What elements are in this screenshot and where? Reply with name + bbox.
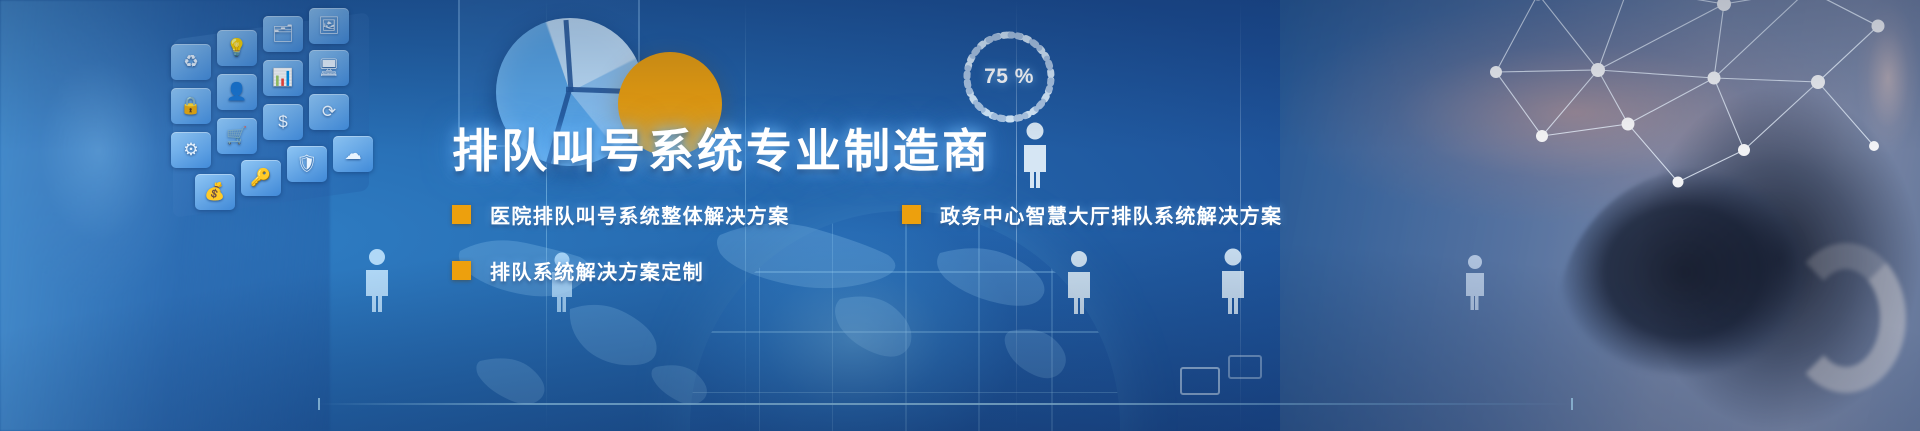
page-title: 排队叫号系统专业制造商 [452,128,1632,174]
list-item[interactable]: 医院排队叫号系统整体解决方案 [452,200,790,229]
orange-square-bullet-icon [452,205,471,224]
orange-square-bullet-icon [452,261,471,280]
list-item[interactable]: 政务中心智慧大厅排队系统解决方案 [902,200,1282,229]
feature-list: 医院排队叫号系统整体解决方案 排队系统解决方案定制 政务中心智慧大厅排队系统解决… [452,200,1632,292]
promo-banner: ♻ 💡 🗂 🖼 🔒 👤 📊 🖥 ⚙ 🛒 $ ⟳ 💰 🔑 🛡 ☁ 75 % [0,0,1920,431]
orange-square-bullet-icon [902,205,921,224]
list-item[interactable]: 排队系统解决方案定制 [452,256,704,285]
banner-copy: 排队叫号系统专业制造商 医院排队叫号系统整体解决方案 排队系统解决方案定制 政务… [452,128,1632,292]
list-item-label: 医院排队叫号系统整体解决方案 [490,200,790,229]
list-item-label: 排队系统解决方案定制 [490,256,704,285]
list-item-label: 政务中心智慧大厅排队系统解决方案 [940,200,1282,229]
